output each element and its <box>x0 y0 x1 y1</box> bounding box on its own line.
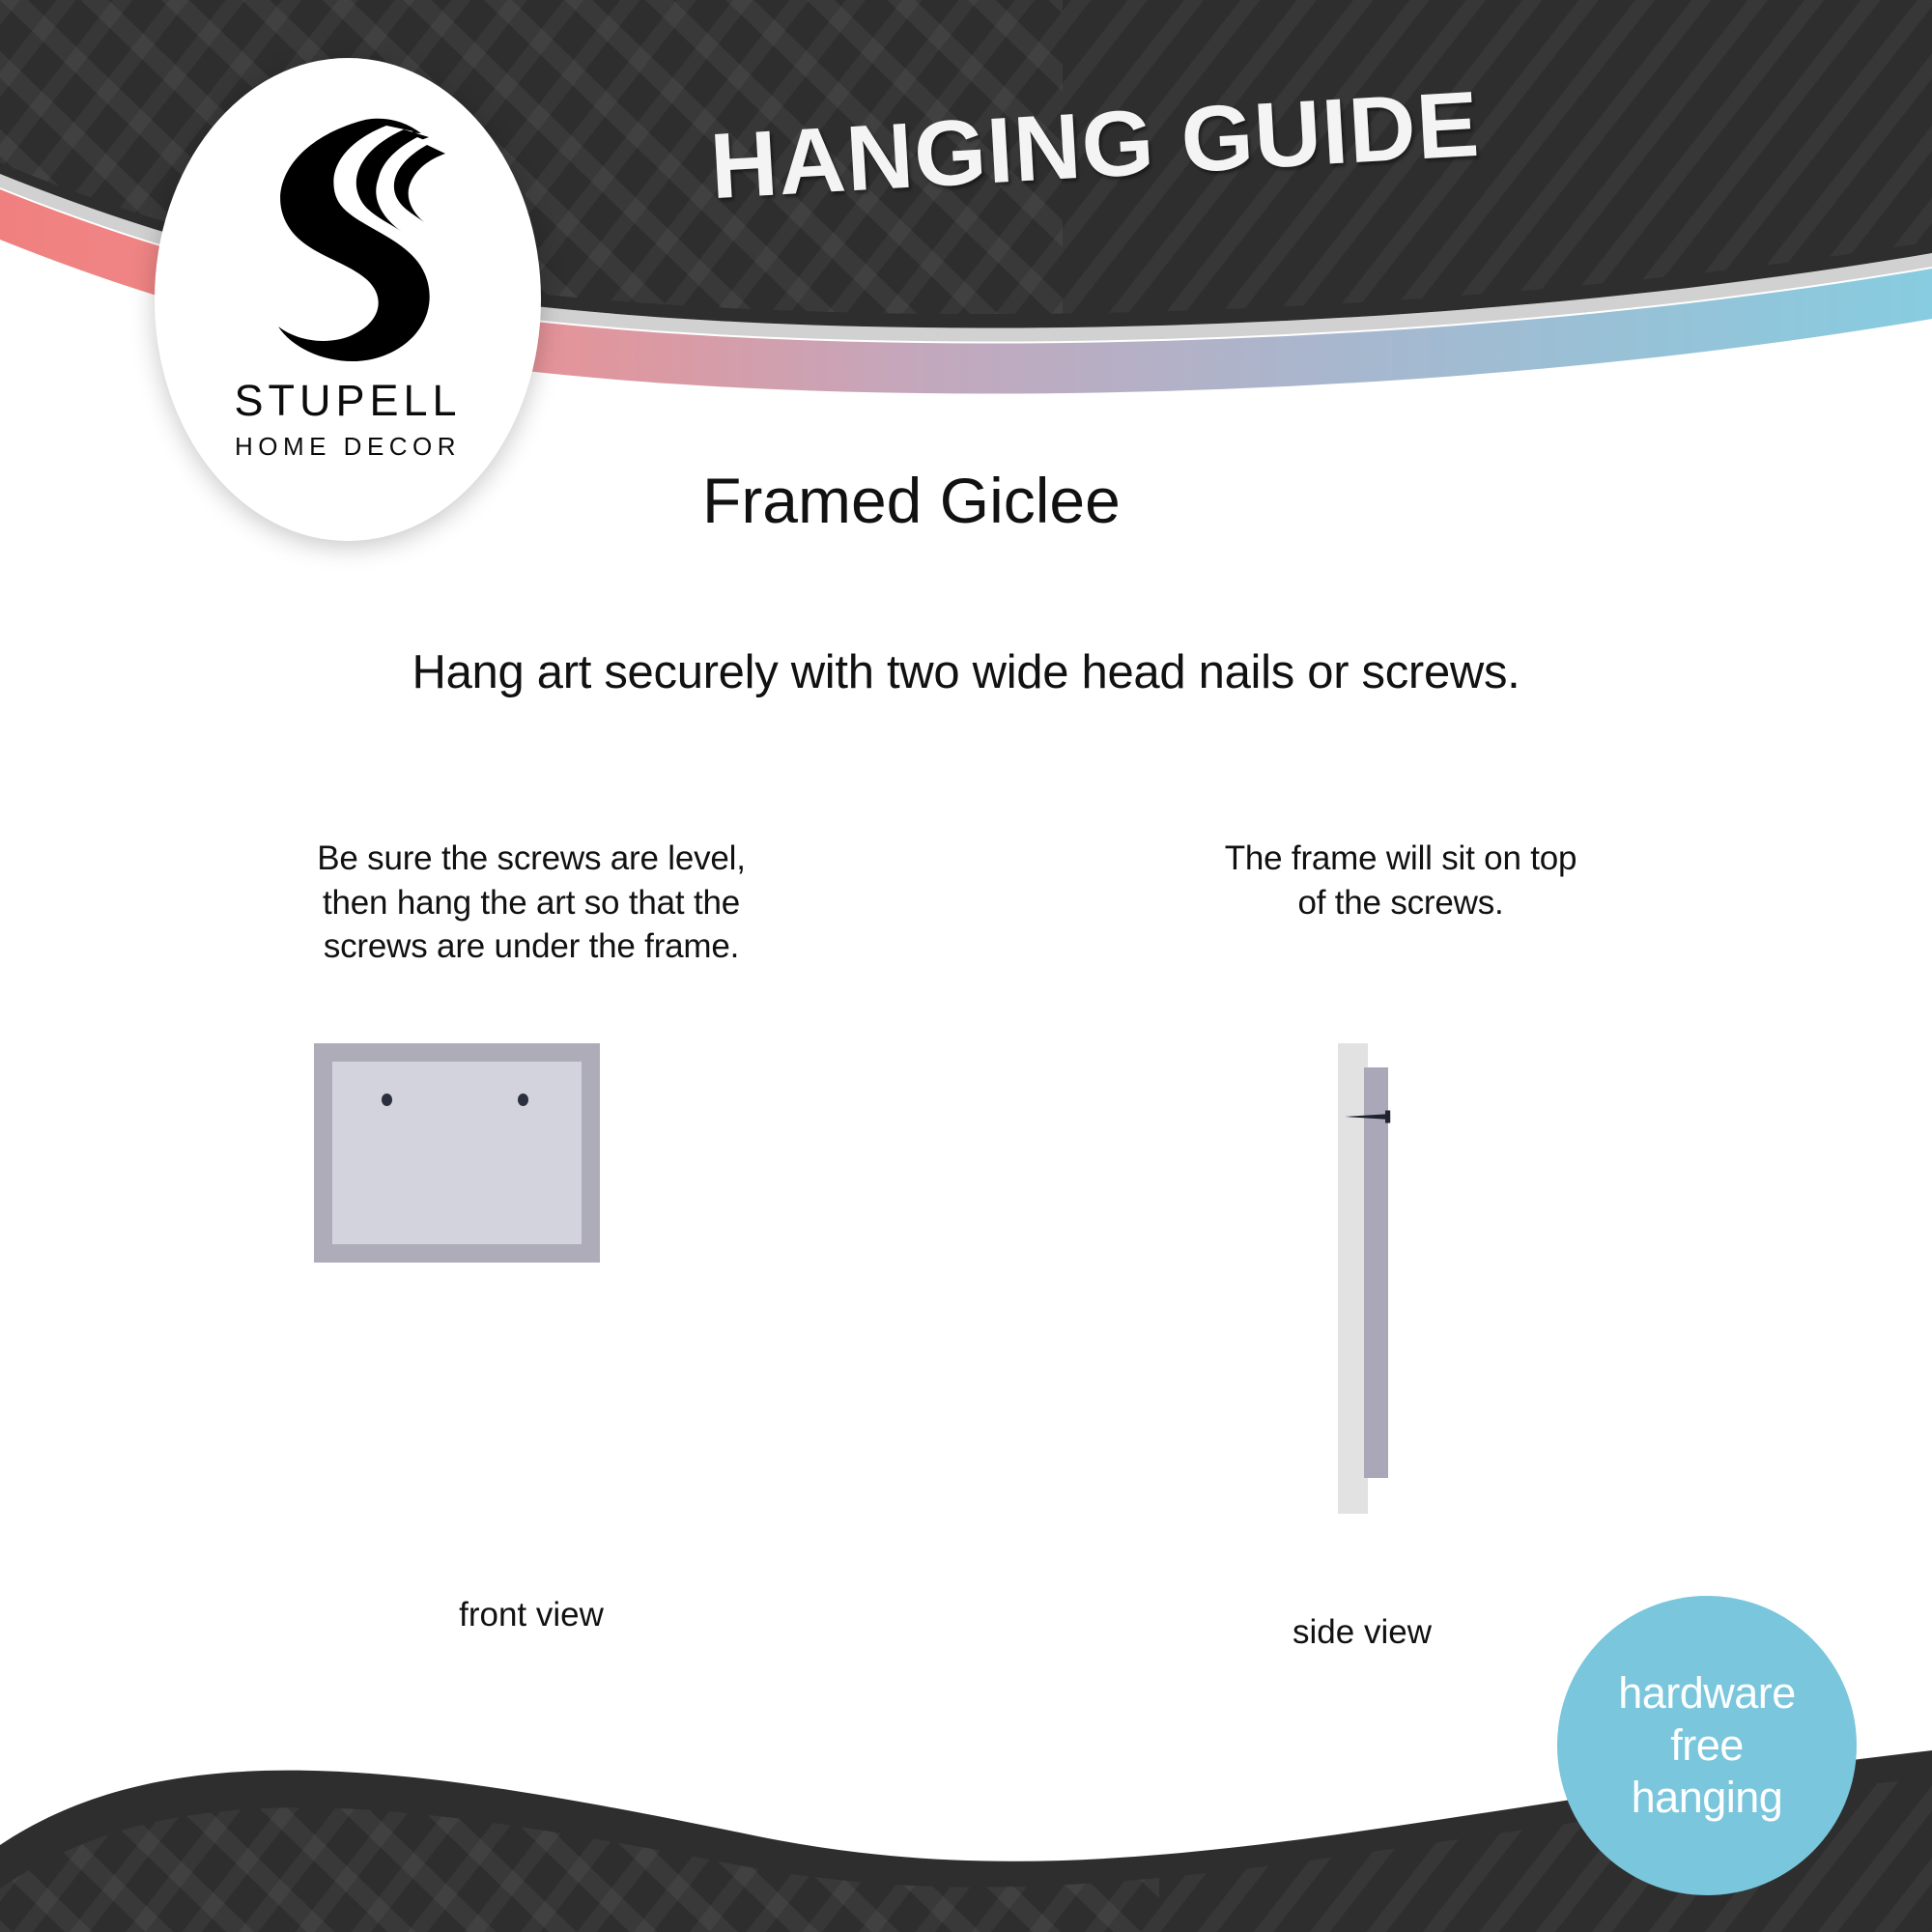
brand-name: STUPELL <box>234 379 461 422</box>
badge-line: hanging <box>1632 1772 1783 1824</box>
page-title: HANGING GUIDE <box>708 71 1483 220</box>
brand-logo-badge: STUPELL HOME DECOR <box>155 58 541 541</box>
front-view-caption-block: Be sure the screws are level, then hang … <box>222 837 840 969</box>
hanging-guide-page: STUPELL HOME DECOR HANGING GUIDE Framed … <box>0 0 1932 1932</box>
caption-line: screws are under the frame. <box>222 924 840 969</box>
nail-icon <box>1343 1109 1403 1124</box>
side-view-caption-block: The frame will sit on top of the screws. <box>1130 837 1671 924</box>
lede-text: Hang art securely with two wide head nai… <box>0 645 1932 699</box>
brand-tagline: HOME DECOR <box>235 434 461 459</box>
side-view-caption: The frame will sit on top of the screws. <box>1130 837 1671 924</box>
front-view-caption: Be sure the screws are level, then hang … <box>222 837 840 969</box>
screw-dot-right <box>518 1094 528 1106</box>
caption-line: of the screws. <box>1130 881 1671 925</box>
product-type: Framed Giclee <box>702 464 1121 537</box>
hardware-free-hanging-badge: hardware free hanging <box>1557 1596 1857 1895</box>
caption-line: Be sure the screws are level, <box>222 837 840 881</box>
side-view-frame <box>1364 1067 1388 1478</box>
caption-line: The frame will sit on top <box>1130 837 1671 881</box>
front-view-frame-diagram <box>314 1043 600 1263</box>
side-view-label: side view <box>1092 1613 1633 1652</box>
stupell-swan-logo-icon <box>241 104 454 375</box>
screw-dot-left <box>382 1094 392 1106</box>
badge-line: free <box>1670 1719 1744 1772</box>
badge-line: hardware <box>1618 1667 1796 1719</box>
caption-line: then hang the art so that the <box>222 881 840 925</box>
front-view-label: front view <box>222 1596 840 1634</box>
front-view-mat <box>332 1062 582 1244</box>
